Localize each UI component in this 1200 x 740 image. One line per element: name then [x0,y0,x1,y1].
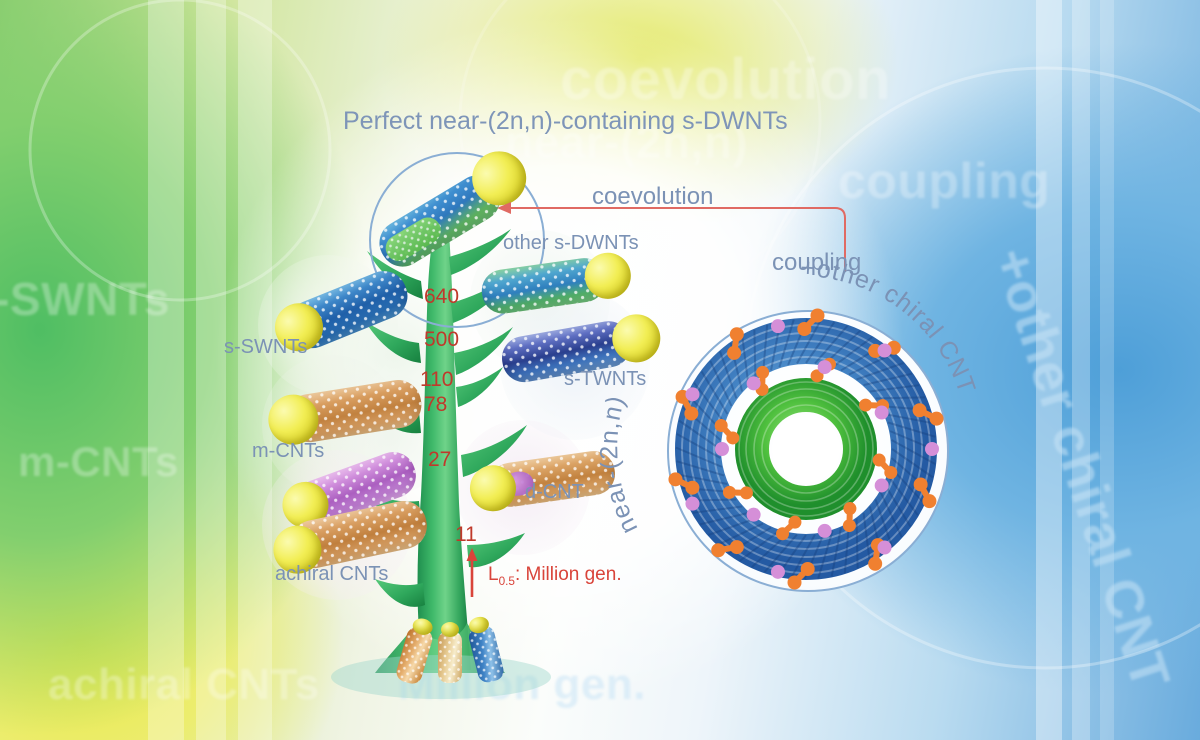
label-d-cnt: d-CNT [525,481,584,504]
branch-value-11: 11 [455,523,477,547]
arc-text-left: near-(2n,n) [595,392,643,538]
arc-text-right: +other chiral CNT [800,254,981,398]
figure-title: Perfect near-(2n,n)-containing s-DWNTs [343,107,788,136]
svg-text:+other chiral CNT: +other chiral CNT [800,254,981,398]
svg-text:near-(2n,n): near-(2n,n) [595,392,643,538]
branch-value-27: 27 [428,448,451,472]
label-s-swnts: s-SWNTs [224,336,307,359]
arc-text: near-(2n,n) +other chiral CNT [597,240,1017,660]
axis-caption-sub: 0.5 [499,575,515,588]
label-coevolution: coevolution [592,183,713,211]
branch-value-500: 500 [424,328,459,352]
axis-caption-main: L [488,564,499,585]
label-achiral-cnts: achiral CNTs [275,563,388,586]
figure-root: coevolution near-(2n,n) coupling s-SWNTs… [0,0,1200,740]
root-nanotube-tan [438,622,464,682]
